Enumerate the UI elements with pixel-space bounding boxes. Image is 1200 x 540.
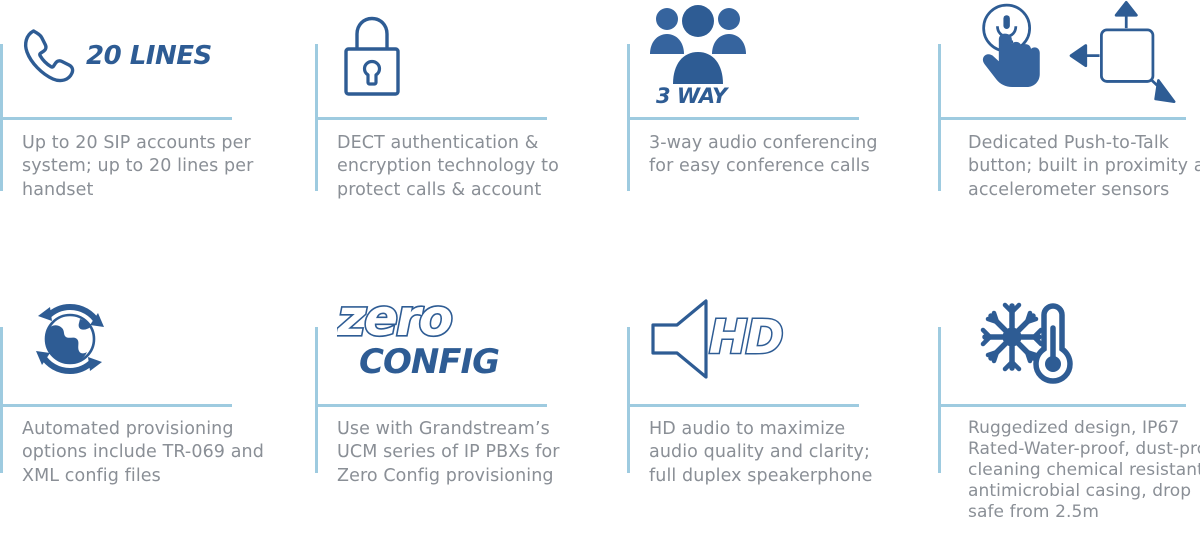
horizontal-rule xyxy=(0,117,232,120)
horizontal-rule xyxy=(627,404,859,407)
vertical-rule xyxy=(938,327,941,473)
vertical-rule xyxy=(627,327,630,473)
feature-caption: 3-way audio conferencing for easy confer… xyxy=(649,132,899,179)
svg-text:zero: zero xyxy=(337,291,452,347)
feature-card-zero-config: zero CONFIG Use with Grandstream’s UCM s… xyxy=(315,280,600,540)
globe-refresh-icon xyxy=(22,280,252,398)
lines-badge-label: 20 LINES xyxy=(86,41,212,71)
horizontal-rule xyxy=(627,117,859,120)
svg-text:HD: HD xyxy=(709,310,782,364)
snowflake-thermometer-icon xyxy=(976,280,1200,398)
speaker-hd-icon: HD xyxy=(649,280,879,398)
feature-caption: DECT authentication & encryption technol… xyxy=(337,132,587,202)
feature-caption: Ruggedized design, IP67 Rated-Water-proo… xyxy=(968,418,1200,523)
feature-card-security: DECT authentication & encryption technol… xyxy=(315,0,600,270)
horizontal-rule xyxy=(0,404,232,407)
feature-grid: 20 LINES Up to 20 SIP accounts per syste… xyxy=(0,0,1200,540)
horizontal-rule xyxy=(938,117,1186,120)
feature-card-hd-audio: HD HD audio to maximize audio quality an… xyxy=(627,280,912,540)
zero-config-wordmark-icon: zero CONFIG xyxy=(337,280,567,398)
feature-caption: Automated provisioning options include T… xyxy=(22,418,272,488)
feature-card-provisioning: Automated provisioning options include T… xyxy=(0,280,285,540)
hand-press-microphone-icon xyxy=(968,0,1198,108)
feature-caption: Use with Grandstream’s UCM series of IP … xyxy=(337,418,587,488)
vertical-rule xyxy=(0,327,3,473)
feature-caption: Dedicated Push-to-Talk button; built in … xyxy=(968,132,1200,202)
three-people-icon: 3 WAY xyxy=(649,0,879,112)
phone-handset-icon: 20 LINES xyxy=(22,0,252,112)
horizontal-rule xyxy=(315,117,547,120)
three-way-badge-label: 3 WAY xyxy=(656,84,727,108)
padlock-icon xyxy=(337,0,567,112)
feature-card-conference: 3 WAY 3-way audio conferencing for easy … xyxy=(627,0,912,270)
feature-caption: Up to 20 SIP accounts per system; up to … xyxy=(22,132,272,202)
vertical-rule xyxy=(315,327,318,473)
feature-card-push-to-talk: Dedicated Push-to-Talk button; built in … xyxy=(938,0,1200,270)
horizontal-rule xyxy=(315,404,547,407)
horizontal-rule xyxy=(938,404,1186,407)
feature-caption: HD audio to maximize audio quality and c… xyxy=(649,418,899,488)
feature-card-rugged: Ruggedized design, IP67 Rated-Water-proo… xyxy=(938,280,1200,540)
svg-text:CONFIG: CONFIG xyxy=(359,342,499,382)
feature-card-lines: 20 LINES Up to 20 SIP accounts per syste… xyxy=(0,0,285,270)
